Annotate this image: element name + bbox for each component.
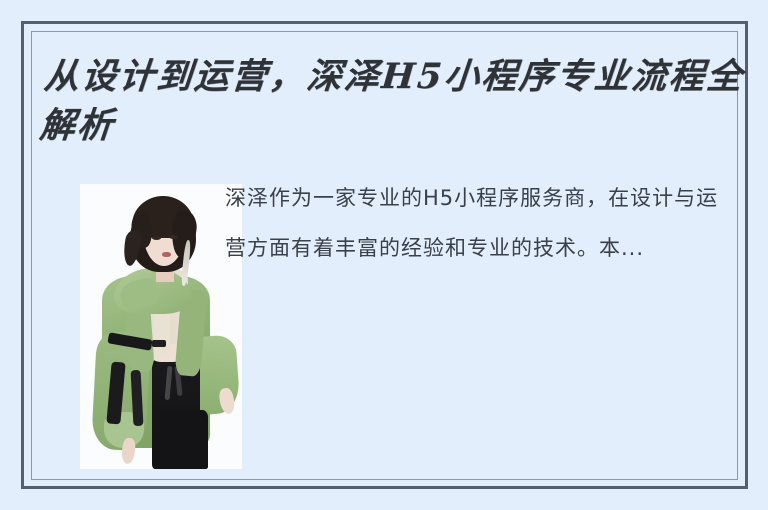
article-title: 从设计到运营，深泽H5小程序专业流程全解析: [38, 52, 747, 150]
article-summary: 深泽作为一家专业的H5小程序服务商，在设计与运营方面有着丰富的经验和专业的技术。…: [225, 173, 721, 273]
article-card: 从设计到运营，深泽H5小程序专业流程全解析: [0, 0, 768, 510]
photo-pants-hem: [160, 410, 208, 469]
title-block: 从设计到运营，深泽H5小程序专业流程全解析: [42, 52, 742, 150]
article-body-row: 深泽作为一家专业的H5小程序服务商，在设计与运营方面有着丰富的经验和专业的技术。…: [40, 168, 730, 458]
article-thumbnail-photo: [80, 184, 242, 469]
photo-eye-right: [169, 235, 178, 239]
photo-eye-left: [152, 236, 161, 240]
photo-hand-left: [121, 437, 137, 464]
photo-coat-tab: [152, 340, 166, 347]
photo-lips: [162, 252, 171, 257]
